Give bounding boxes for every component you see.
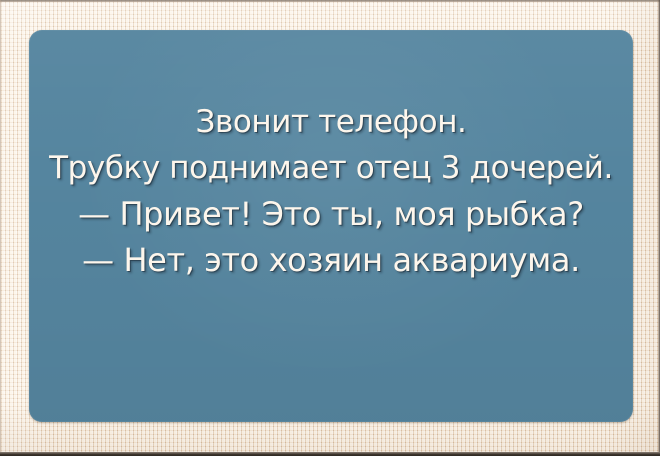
quote-line-4: — Нет, это хозяин аквариума. <box>29 237 633 283</box>
quote-text-block: Звонит телефон. Трубку поднимает отец 3 … <box>29 99 633 283</box>
quote-line-1: Звонит телефон. <box>29 99 633 145</box>
quote-line-3: — Привет! Это ты, моя рыбка? <box>29 191 633 237</box>
card-left-edge-line <box>0 0 1 456</box>
card-bottom-edge-line <box>0 452 660 456</box>
quote-line-2: Трубку поднимает отец 3 дочерей. <box>29 145 633 191</box>
quote-panel: Звонит телефон. Трубку поднимает отец 3 … <box>29 30 633 422</box>
card-top-edge-line <box>0 0 660 2</box>
joke-card: Звонит телефон. Трубку поднимает отец 3 … <box>0 0 660 456</box>
